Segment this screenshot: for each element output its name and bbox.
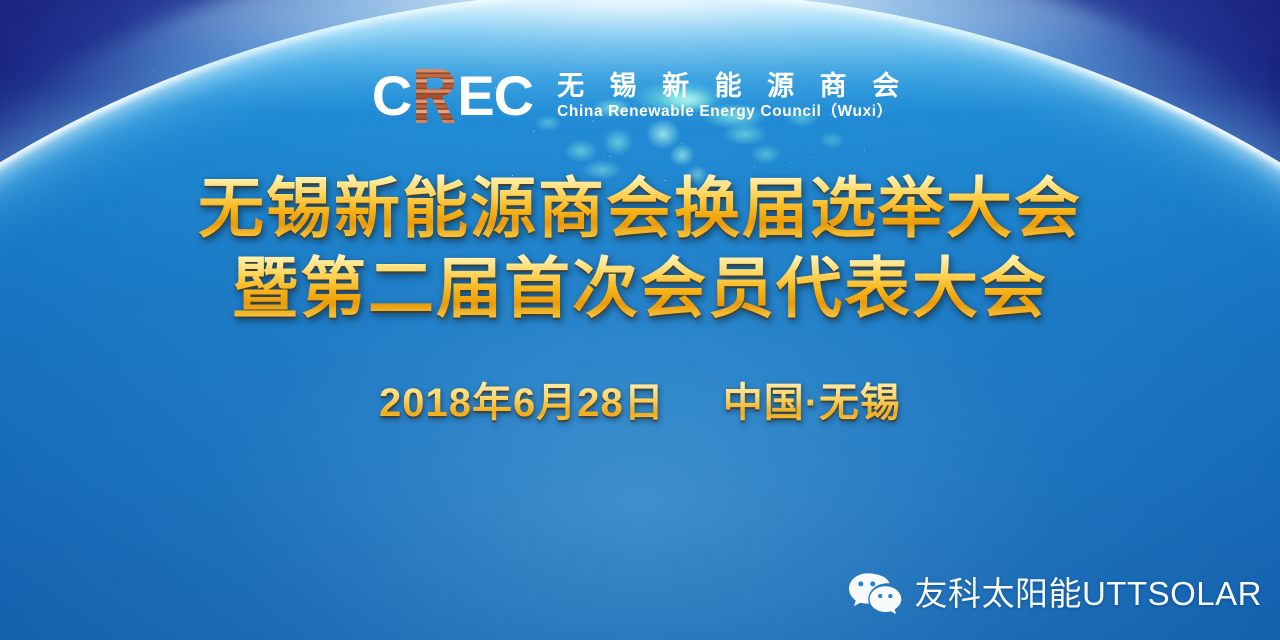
crec-logo: C bbox=[0, 68, 1280, 124]
logo-letter-r-striped-icon bbox=[412, 69, 456, 123]
conference-banner: C bbox=[0, 0, 1280, 640]
logo-english-name: China Renewable Energy Council（Wuxi） bbox=[557, 104, 908, 120]
event-title: 无锡新能源商会换届选举大会 暨第二届首次会员代表大会 bbox=[0, 168, 1280, 328]
logo-text-block: 无 锡 新 能 源 商 会 China Renewable Energy Cou… bbox=[557, 73, 908, 120]
logo-chinese-name: 无 锡 新 能 源 商 会 bbox=[557, 73, 908, 100]
event-title-line-1: 无锡新能源商会换届选举大会 bbox=[0, 168, 1280, 248]
event-date: 2018年6月28日 bbox=[379, 370, 665, 428]
crec-wordmark: C bbox=[372, 68, 533, 124]
logo-letter-e: E bbox=[457, 68, 493, 124]
event-location: 中国·无锡 bbox=[723, 370, 901, 428]
watermark-text: 友科太阳能UTTSOLAR bbox=[914, 577, 1262, 610]
watermark: 友科太阳能UTTSOLAR bbox=[847, 570, 1262, 616]
logo-letter-c2: C bbox=[494, 68, 533, 124]
wechat-icon bbox=[847, 570, 903, 616]
logo-letter-c1: C bbox=[372, 68, 411, 124]
event-title-line-2: 暨第二届首次会员代表大会 bbox=[0, 248, 1280, 328]
event-meta: 2018年6月28日 中国·无锡 bbox=[0, 370, 1280, 428]
